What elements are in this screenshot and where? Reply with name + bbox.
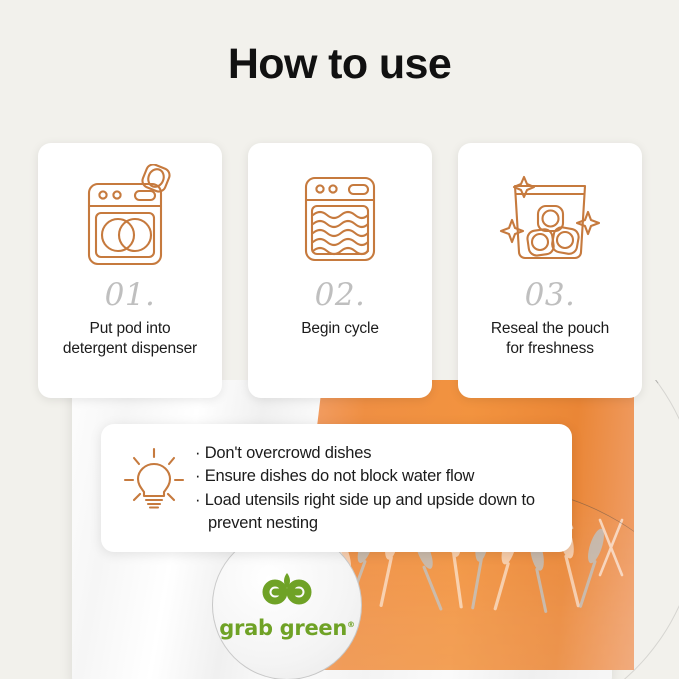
lightbulb-icon bbox=[123, 446, 185, 510]
step-card-2: 02. Begin cycle bbox=[248, 143, 432, 398]
step-2-label: Begin cycle bbox=[301, 319, 379, 339]
step-3-label: Reseal the pouchfor freshness bbox=[491, 319, 609, 360]
registered-mark: ® bbox=[347, 620, 355, 629]
resealable-pouch-icon bbox=[498, 164, 602, 272]
step-1-icon-wrap bbox=[80, 159, 180, 277]
tips-list: Don't overcrowd dishes Ensure dishes do … bbox=[195, 440, 554, 536]
brand-logo-badge: grab green® bbox=[212, 530, 362, 679]
brand-name-text: grab green bbox=[219, 616, 347, 640]
step-2-number: 02. bbox=[315, 277, 366, 313]
step-card-1: 01. Put pod intodetergent dispenser bbox=[38, 143, 222, 398]
tips-card: Don't overcrowd dishes Ensure dishes do … bbox=[101, 424, 572, 552]
tip-item: Ensure dishes do not block water flow bbox=[195, 465, 554, 488]
tip-item: Load utensils right side up and upside d… bbox=[195, 489, 554, 536]
page-title: How to use bbox=[0, 40, 679, 89]
dishwasher-with-pod-icon bbox=[80, 164, 180, 272]
steps-row: 01. Put pod intodetergent dispenser bbox=[38, 143, 642, 398]
step-card-3: 03. Reseal the pouchfor freshness bbox=[458, 143, 642, 398]
step-3-icon-wrap bbox=[498, 159, 602, 277]
step-3-number: 03. bbox=[525, 277, 576, 313]
step-1-number: 01. bbox=[105, 277, 156, 313]
step-2-icon-wrap bbox=[290, 159, 390, 277]
grab-green-leaf-logo-icon bbox=[256, 571, 318, 615]
dishwasher-running-icon bbox=[290, 164, 390, 272]
step-1-label: Put pod intodetergent dispenser bbox=[63, 319, 197, 360]
brand-name: grab green® bbox=[219, 616, 354, 640]
tips-icon-wrap bbox=[117, 440, 185, 515]
tip-item: Don't overcrowd dishes bbox=[195, 442, 554, 465]
